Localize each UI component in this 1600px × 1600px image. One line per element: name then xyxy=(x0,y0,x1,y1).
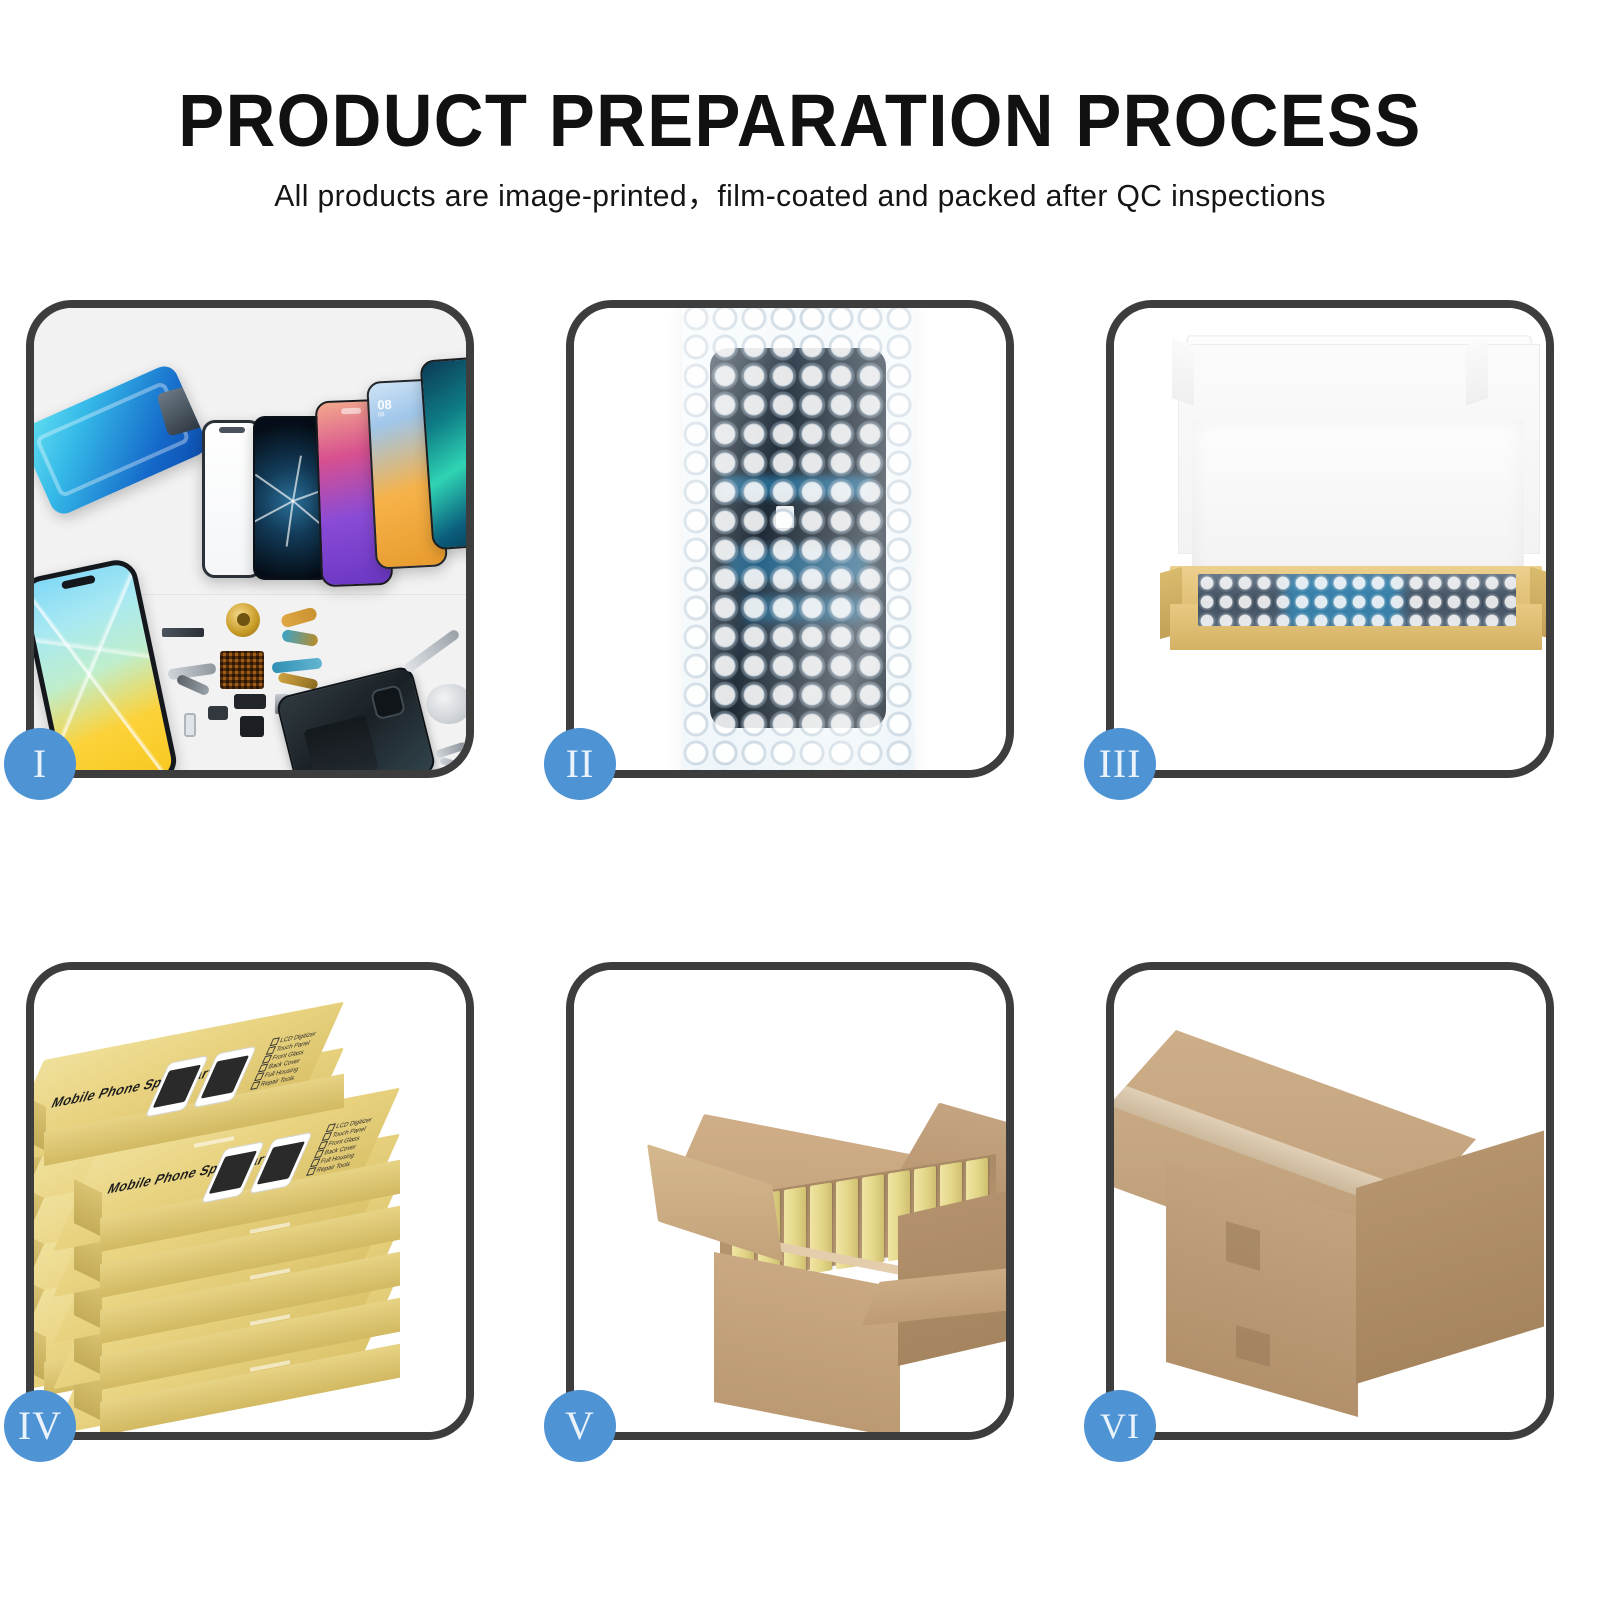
page-title: PRODUCT PREPARATION PROCESS xyxy=(56,78,1544,163)
module-part-1 xyxy=(234,694,266,709)
wireless-coil-part xyxy=(226,603,260,637)
foam-padding xyxy=(1192,420,1524,580)
retail-box-stack: Mobile Phone Spare Parts LCD Digitizer T… xyxy=(34,1010,466,1430)
speaker-mesh-part xyxy=(162,628,204,637)
step-image-6 xyxy=(1114,970,1546,1432)
step-image-5 xyxy=(574,970,1006,1432)
step-badge-3: III xyxy=(1084,728,1156,800)
module-part-3 xyxy=(240,716,264,737)
sealed-shipping-carton xyxy=(1158,1030,1546,1390)
header: PRODUCT PREPARATION PROCESS All products… xyxy=(0,0,1600,250)
wrapped-item-in-box xyxy=(1198,574,1516,626)
mailer-flap-right xyxy=(1466,338,1488,405)
step-badge-6: VI xyxy=(1084,1390,1156,1462)
step-panel-5: V xyxy=(566,962,1014,1440)
step-image-3 xyxy=(1114,308,1546,770)
mailer-flap-left xyxy=(1172,338,1194,405)
step-image-4: Mobile Phone Spare Parts LCD Digitizer T… xyxy=(34,970,466,1432)
step-badge-5: V xyxy=(544,1390,616,1462)
step-panel-3: III xyxy=(1106,300,1554,778)
sim-tray-part xyxy=(184,713,196,737)
step-badge-4: IV xyxy=(4,1390,76,1462)
open-shipping-carton xyxy=(670,1066,990,1366)
module-part-4 xyxy=(208,706,228,720)
step-badge-1: I xyxy=(4,728,76,800)
step-panel-2: II xyxy=(566,300,1014,778)
step-image-1: 0808 xyxy=(34,308,466,770)
step-panel-6: VI xyxy=(1106,962,1554,1440)
carton-front-face xyxy=(714,1252,900,1432)
plastic-sheen xyxy=(682,308,914,770)
step-badge-2: II xyxy=(544,728,616,800)
step-panel-1: 0808 xyxy=(26,300,474,778)
retail-box-labelled: Mobile Phone Spare Parts LCD Digitizer T… xyxy=(44,1060,344,1094)
page-subtitle: All products are image-printed，film-coat… xyxy=(24,170,1576,215)
ic-chip-part xyxy=(220,651,264,689)
bubble-wrap-pouch xyxy=(682,308,914,770)
cleaning-brush-part xyxy=(426,684,466,724)
step-panel-4: Mobile Phone Spare Parts LCD Digitizer T… xyxy=(26,962,474,1440)
retail-box-labelled: Mobile Phone Spare Parts LCD Digitizer T… xyxy=(100,1146,400,1180)
step-image-2 xyxy=(574,308,1006,770)
